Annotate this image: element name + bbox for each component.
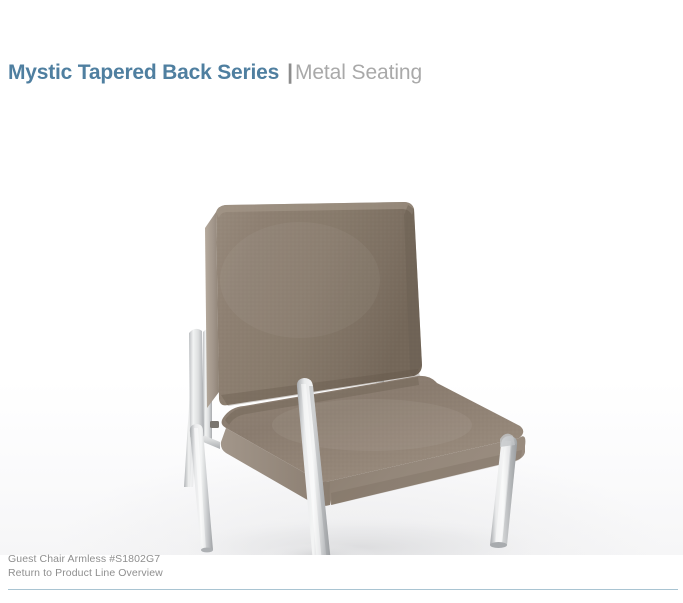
- return-to-product-line-link[interactable]: Return to Product Line Overview: [8, 566, 163, 580]
- guest-chair-armless-illustration: [0, 95, 683, 555]
- page-title: Mystic Tapered Back Series|Metal Seating: [8, 62, 422, 83]
- title-separator: |: [279, 61, 295, 84]
- product-model-label: Guest Chair Armless #S1802G7: [8, 552, 163, 566]
- category-name: Metal Seating: [295, 61, 422, 84]
- product-caption: Guest Chair Armless #S1802G7 Return to P…: [8, 552, 163, 580]
- bottom-divider: [8, 589, 678, 590]
- product-image-stage: [0, 95, 683, 555]
- series-name: Mystic Tapered Back Series: [8, 61, 279, 84]
